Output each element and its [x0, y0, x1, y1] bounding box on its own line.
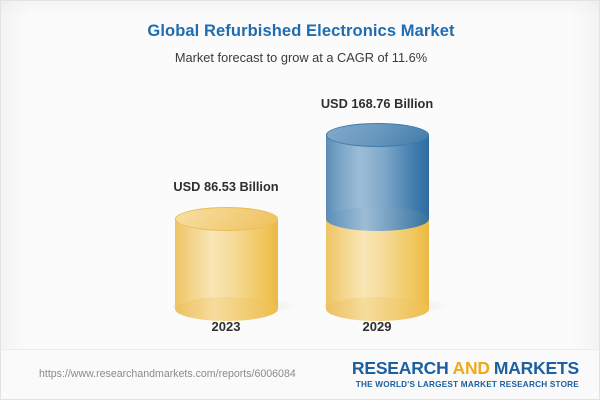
- cylinder-bottom-ellipse: [326, 297, 429, 321]
- bar-cylinder-2023: [175, 207, 278, 309]
- bar-group-2029: USD 168.76 Billion 2029: [302, 1, 452, 349]
- bar-value-label-2029: USD 168.76 Billion: [302, 96, 452, 111]
- bar-chart-plot-area: USD 86.53 Billion 2023 USD 168.76 Billio…: [1, 1, 600, 349]
- market-forecast-infographic: Global Refurbished Electronics Market Ma…: [0, 0, 600, 400]
- bar-group-2023: USD 86.53 Billion 2023: [151, 1, 301, 349]
- category-label-2029: 2029: [302, 319, 452, 334]
- logo-tagline: THE WORLD'S LARGEST MARKET RESEARCH STOR…: [352, 380, 579, 389]
- logo-word-research: RESEARCH: [352, 358, 449, 378]
- category-label-2023: 2023: [151, 319, 301, 334]
- logo-word-markets: MARKETS: [494, 358, 579, 378]
- cylinder-bottom-ellipse: [175, 297, 278, 321]
- bar-segment-growth-2029: [326, 123, 429, 219]
- bar-value-label-2023: USD 86.53 Billion: [151, 179, 301, 194]
- logo-wordmark: RESEARCHANDMARKETS: [352, 358, 579, 378]
- footer-bar: https://www.researchandmarkets.com/repor…: [1, 349, 600, 400]
- logo-word-and: AND: [449, 358, 494, 378]
- bar-cylinder-2029: [326, 123, 429, 309]
- report-url[interactable]: https://www.researchandmarkets.com/repor…: [39, 368, 296, 380]
- cylinder-top-ellipse: [326, 123, 429, 147]
- cylinder-top-ellipse: [175, 207, 278, 231]
- cylinder-body: [175, 219, 278, 309]
- research-and-markets-logo[interactable]: RESEARCHANDMARKETS THE WORLD'S LARGEST M…: [352, 358, 579, 389]
- bar-segment-base-2023: [175, 207, 278, 309]
- cylinder-bottom-ellipse: [326, 207, 429, 231]
